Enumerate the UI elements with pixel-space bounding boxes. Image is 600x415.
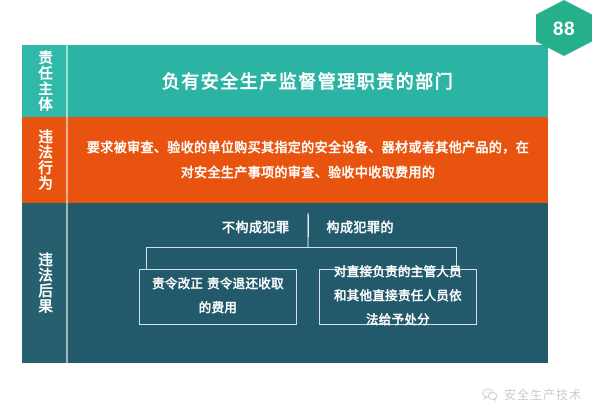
condition-not-crime: 不构成犯罪 [204, 217, 308, 236]
consequence-flowchart: 不构成犯罪 构成犯罪的 责令改正 责令退还收取的费用 对直接负责的主管人员和其他… [68, 203, 548, 363]
connector-horizontal-bar [146, 247, 456, 248]
subject-content-text: 负有安全生产监督管理职责的部门 [162, 68, 455, 94]
row-label-consequence: 违法后果 [22, 203, 68, 363]
liability-diagram: 责任主体 负有安全生产监督管理职责的部门 违法行为 要求被审查、验收的单位购买其… [22, 45, 548, 363]
watermark-text: 安全生产技术 [504, 386, 582, 403]
outcome-box-sanction: 对直接负责的主管人员和其他直接责任人员依法给予处分 [319, 269, 477, 325]
condition-is-crime: 构成犯罪的 [309, 217, 413, 236]
connector-stem [308, 213, 309, 247]
watermark: 安全生产技术 [482, 386, 582, 403]
row-body-subject: 负有安全生产监督管理职责的部门 [68, 45, 548, 117]
page-number-text: 88 [553, 18, 575, 39]
row-label-subject: 责任主体 [22, 45, 68, 117]
diagram-row-consequence: 违法后果 不构成犯罪 构成犯罪的 责令改正 责令退还收取的费用 对直接负责的主管… [22, 203, 548, 363]
diagram-row-subject: 责任主体 负有安全生产监督管理职责的部门 [22, 45, 548, 117]
row-body-consequence: 不构成犯罪 构成犯罪的 责令改正 责令退还收取的费用 对直接负责的主管人员和其他… [68, 203, 548, 363]
outcome-row: 责令改正 责令退还收取的费用 对直接负责的主管人员和其他直接责任人员依法给予处分 [68, 269, 548, 325]
wechat-icon [482, 388, 498, 401]
conduct-content-text: 要求被审查、验收的单位购买其指定的安全设备、器材或者其他产品的，在对安全生产事项… [68, 135, 548, 186]
connector-drop-left [146, 247, 147, 269]
diagram-row-conduct: 违法行为 要求被审查、验收的单位购买其指定的安全设备、器材或者其他产品的，在对安… [22, 117, 548, 203]
outcome-box-correction: 责令改正 责令退还收取的费用 [139, 269, 297, 325]
row-label-conduct: 违法行为 [22, 117, 68, 203]
page-number-badge: 88 [536, 0, 592, 56]
row-body-conduct: 要求被审查、验收的单位购买其指定的安全设备、器材或者其他产品的，在对安全生产事项… [68, 117, 548, 203]
